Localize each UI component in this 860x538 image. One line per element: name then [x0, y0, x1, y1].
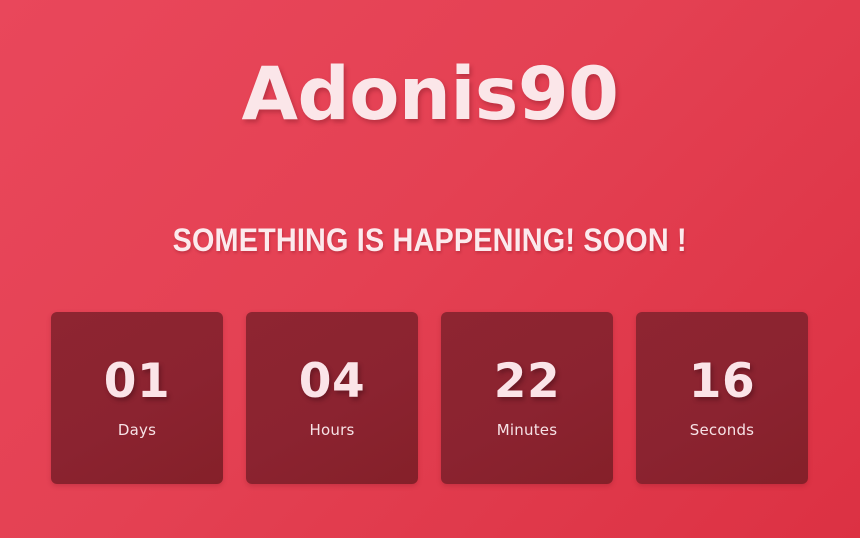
countdown-unit-days: 01 Days — [51, 312, 223, 484]
countdown-label-minutes: Minutes — [497, 423, 557, 438]
countdown-label-seconds: Seconds — [690, 423, 754, 438]
countdown-value-hours: 04 — [299, 358, 365, 405]
countdown-value-minutes: 22 — [494, 358, 560, 405]
countdown-label-days: Days — [118, 423, 156, 438]
page-title: Adonis90 — [242, 58, 619, 131]
countdown-value-days: 01 — [104, 358, 170, 405]
countdown-unit-minutes: 22 Minutes — [441, 312, 613, 484]
countdown-label-hours: Hours — [310, 423, 355, 438]
tagline: SOMETHING IS HAPPENING! SOON ! — [173, 224, 687, 256]
coming-soon-page: Adonis90 SOMETHING IS HAPPENING! SOON ! … — [0, 0, 860, 538]
countdown-unit-seconds: 16 Seconds — [636, 312, 808, 484]
countdown-unit-hours: 04 Hours — [246, 312, 418, 484]
countdown-value-seconds: 16 — [689, 358, 755, 405]
countdown-timer: 01 Days 04 Hours 22 Minutes 16 Seconds — [51, 312, 808, 484]
